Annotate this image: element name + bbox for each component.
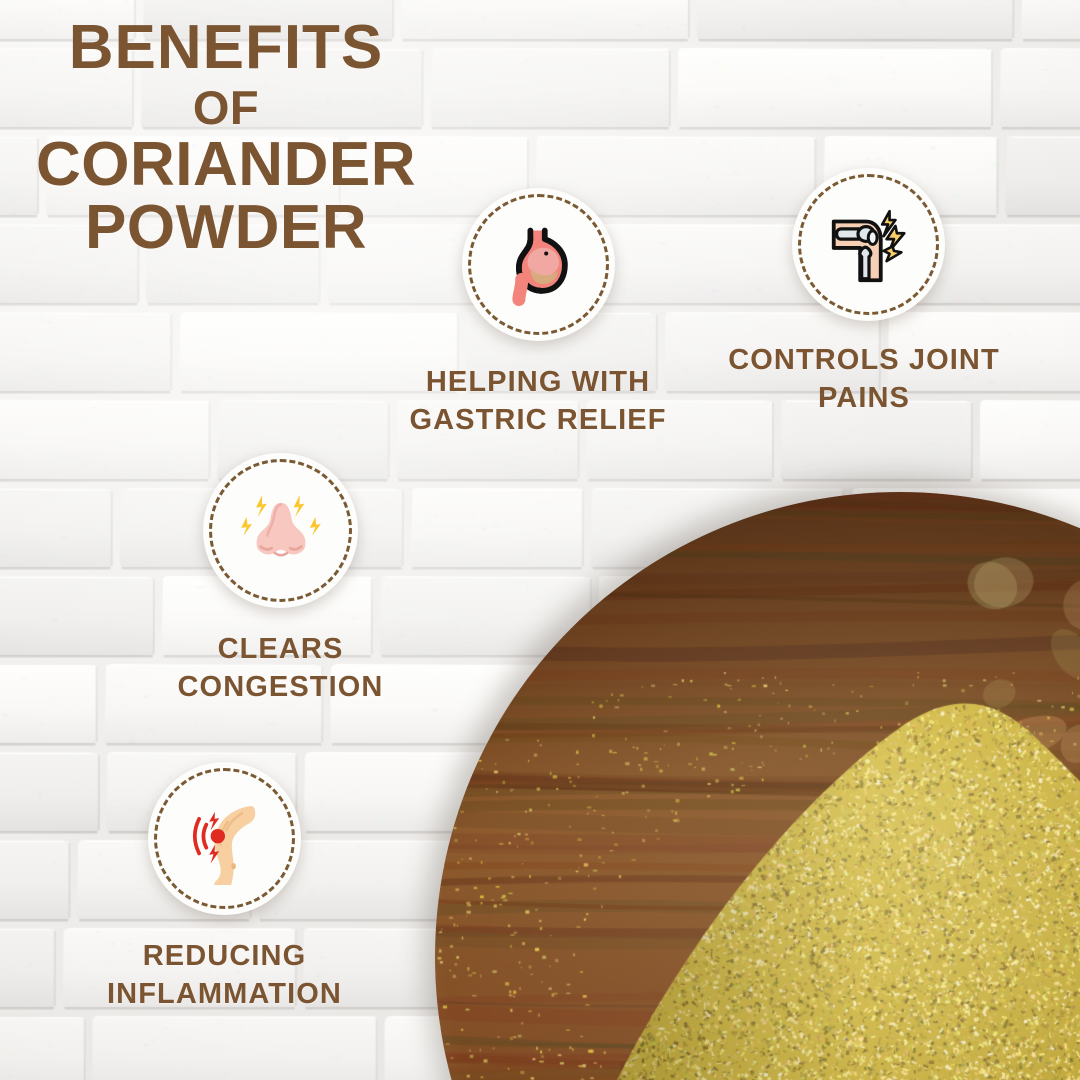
benefit-label-gastric: HELPING WITH GASTRIC RELIEF — [390, 363, 686, 440]
leg-inflammation-icon — [179, 793, 271, 885]
benefit-item-congestion: CLEARS CONGESTION — [128, 453, 433, 707]
benefit-label-joint: CONTROLS JOINT PAINS — [714, 341, 1014, 418]
benefit-label-line-1: CONTROLS JOINT — [714, 341, 1014, 379]
benefit-label-line-1: CLEARS — [128, 630, 433, 668]
page-title: BENEFITS OF CORIANDER POWDER — [0, 18, 452, 258]
title-line-2: OF — [0, 85, 452, 131]
benefit-label-inflammation: REDUCING INFLAMMATION — [72, 937, 377, 1014]
title-line-1: BENEFITS — [0, 18, 452, 79]
benefit-icon-circle-joint — [792, 168, 945, 321]
benefit-label-line-1: HELPING WITH — [390, 363, 686, 401]
benefit-label-line-2: INFLAMMATION — [72, 975, 377, 1013]
title-line-4: POWDER — [0, 198, 452, 259]
benefit-icon-circle-inflammation — [148, 762, 301, 915]
benefit-label-line-2: PAINS — [714, 379, 1014, 417]
benefit-label-line-2: GASTRIC RELIEF — [390, 401, 686, 439]
benefit-label-line-1: REDUCING — [72, 937, 377, 975]
benefit-item-joint-pain: CONTROLS JOINT PAINS — [714, 168, 1014, 418]
benefit-item-inflammation: REDUCING INFLAMMATION — [72, 762, 377, 1014]
benefit-icon-circle-congestion — [203, 453, 358, 608]
benefit-item-gastric: HELPING WITH GASTRIC RELIEF — [390, 188, 686, 440]
benefit-label-line-2: CONGESTION — [128, 668, 433, 706]
benefit-label-congestion: CLEARS CONGESTION — [128, 630, 433, 707]
title-line-3: CORIANDER — [0, 135, 452, 196]
nose-congestion-icon — [231, 481, 331, 581]
benefit-icon-circle-gastric — [462, 188, 615, 341]
knee-joint-pain-icon — [822, 198, 916, 292]
stomach-icon — [493, 219, 585, 311]
